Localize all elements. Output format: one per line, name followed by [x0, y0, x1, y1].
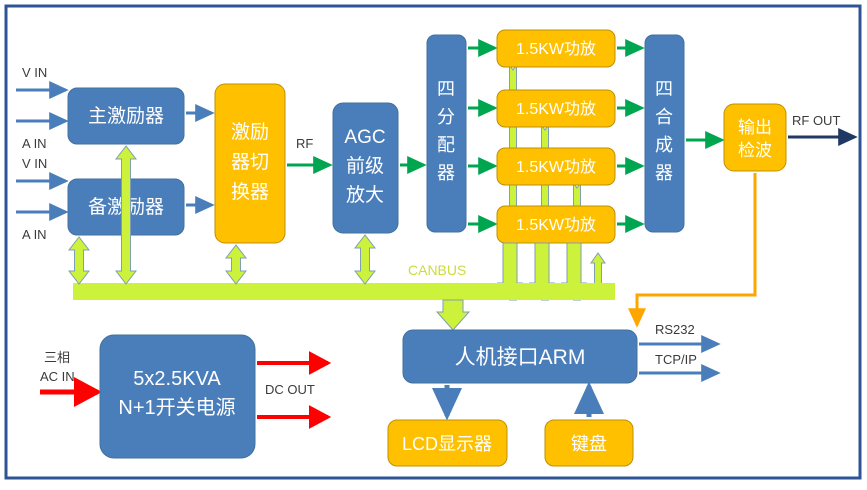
- label-rf-out: RF OUT: [792, 113, 840, 128]
- input-arrows-backup: [16, 181, 66, 212]
- block-keyboard-label: 键盘: [571, 434, 607, 454]
- block-agc-preamp[interactable]: AGC 前级 放大: [333, 103, 398, 233]
- block-exciter-switch-line-1: 器切: [231, 152, 269, 173]
- block-amplifier-2-label: 1.5KW功放: [516, 100, 596, 118]
- block-agc-line-2: 放大: [346, 184, 384, 206]
- block-main-exciter[interactable]: 主激励器: [68, 88, 184, 144]
- block-power-supply-line-0: 5x2.5KVA: [133, 368, 221, 390]
- block-agc-line-1: 前级: [346, 155, 384, 177]
- block-splitter-line-3: 器: [437, 163, 455, 183]
- block-hmi-arm-label: 人机接口ARM: [455, 346, 586, 369]
- label-a-in-2: A IN: [22, 227, 47, 242]
- block-power-supply[interactable]: 5x2.5KVA N+1开关电源: [100, 335, 255, 458]
- block-splitter-line-0: 四: [437, 79, 455, 99]
- label-v-in-2: V IN: [22, 156, 47, 171]
- block-exciter-switch[interactable]: 激励 器切 换器: [215, 84, 285, 243]
- label-rf: RF: [296, 136, 313, 151]
- block-exciter-switch-line-0: 激励: [231, 121, 269, 143]
- block-output-detector-line-0: 输出: [738, 118, 772, 137]
- block-amplifier-3-label: 1.5KW功放: [516, 158, 596, 176]
- block-amplifier-3[interactable]: 1.5KW功放: [497, 148, 615, 185]
- block-lcd-display-label: LCD显示器: [402, 434, 492, 454]
- label-three-phase: 三相: [44, 350, 70, 365]
- label-a-in-1: A IN: [22, 136, 47, 151]
- diagram-canvas: V IN A IN V IN A IN 主激励器 备激励器 激励 器切 换器 R…: [0, 0, 867, 490]
- canbus-bar: [73, 283, 615, 300]
- block-hmi-arm[interactable]: 人机接口ARM: [403, 330, 637, 383]
- block-combiner-line-3: 器: [655, 163, 673, 183]
- block-power-supply-line-1: N+1开关电源: [118, 396, 235, 419]
- block-splitter-line-2: 配: [437, 135, 455, 155]
- input-arrows-main: [16, 90, 66, 121]
- canbus-arrow-backup-exciter: [69, 237, 89, 284]
- label-canbus: CANBUS: [408, 262, 466, 278]
- block-agc-line-0: AGC: [344, 127, 385, 148]
- label-tcpip: TCP/IP: [655, 352, 697, 367]
- block-four-way-splitter[interactable]: 四 分 配 器: [427, 35, 466, 232]
- block-output-detector-line-1: 检波: [738, 141, 772, 160]
- block-amplifier-2[interactable]: 1.5KW功放: [497, 90, 615, 127]
- block-amplifier-4-label: 1.5KW功放: [516, 216, 596, 234]
- canbus-arrow-to-arm: [437, 300, 469, 330]
- block-combiner-line-1: 合: [655, 107, 673, 127]
- block-amplifier-4[interactable]: 1.5KW功放: [497, 206, 615, 243]
- block-combiner-line-2: 成: [655, 135, 673, 155]
- block-keyboard[interactable]: 键盘: [545, 420, 633, 466]
- label-dc-out: DC OUT: [265, 382, 315, 397]
- label-ac-in: AC IN: [40, 369, 75, 384]
- block-exciter-switch-line-2: 换器: [231, 181, 269, 203]
- label-v-in-1: V IN: [22, 65, 47, 80]
- block-main-exciter-label: 主激励器: [88, 105, 164, 127]
- block-combiner-line-0: 四: [655, 79, 673, 99]
- block-four-way-combiner[interactable]: 四 合 成 器: [645, 35, 684, 232]
- canbus-arrow-exciter-switch: [226, 245, 246, 284]
- block-splitter-line-1: 分: [437, 107, 455, 127]
- block-amplifier-1-label: 1.5KW功放: [516, 40, 596, 58]
- block-lcd-display[interactable]: LCD显示器: [388, 420, 507, 466]
- canbus-arrow-agc: [355, 235, 375, 284]
- block-amplifier-1[interactable]: 1.5KW功放: [497, 30, 615, 67]
- block-output-detector[interactable]: 输出 检波: [724, 104, 786, 171]
- label-rs232: RS232: [655, 322, 695, 337]
